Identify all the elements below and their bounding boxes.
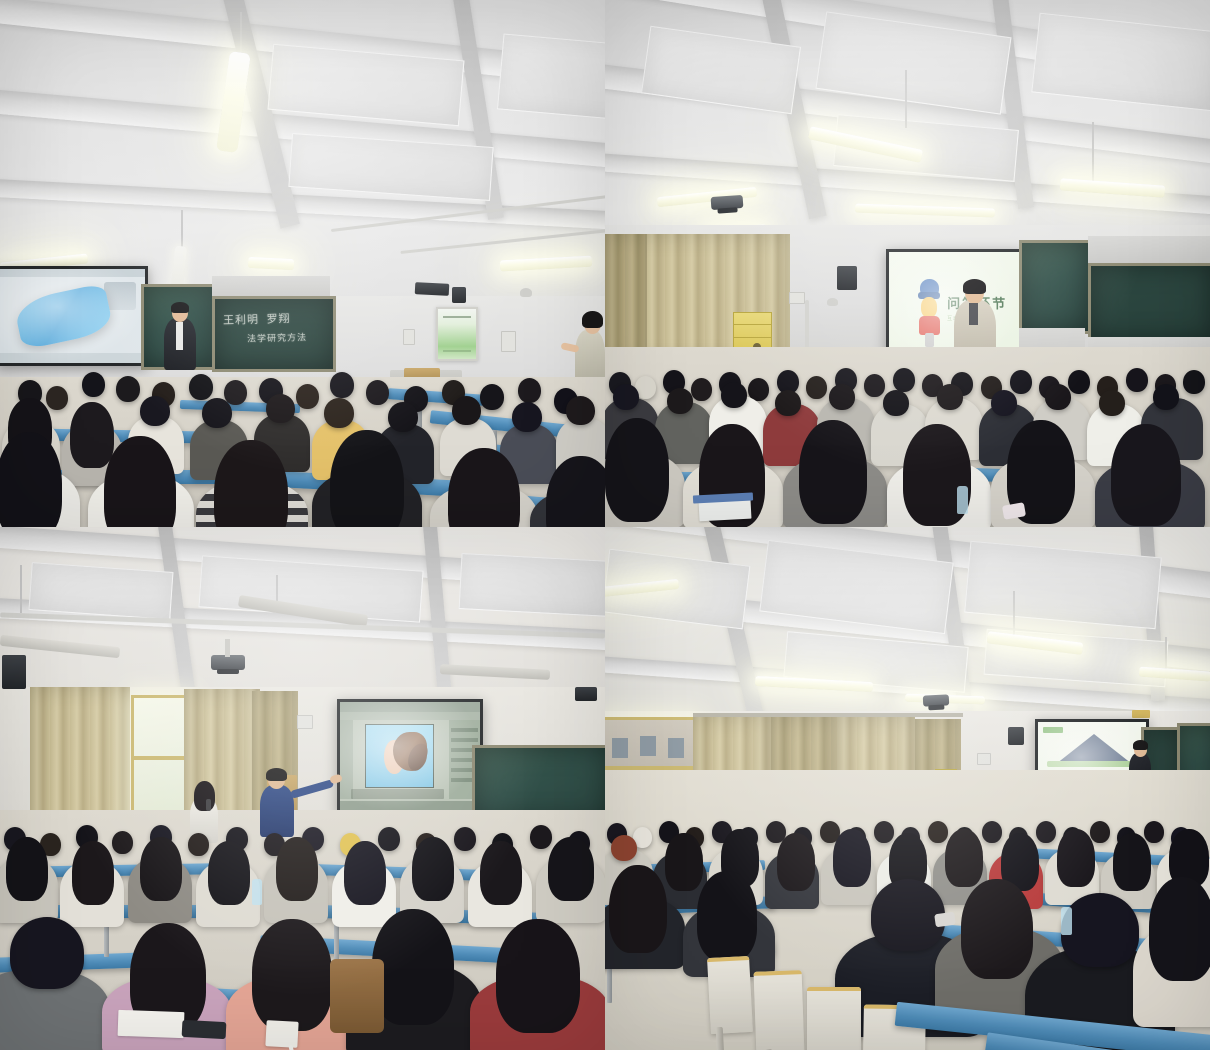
light-rod (1092, 122, 1094, 182)
wall-speaker (837, 266, 857, 290)
student-hair-foreground (697, 871, 757, 961)
app-viewport (365, 724, 434, 788)
student-head-foreground (1061, 893, 1139, 967)
notebook (118, 1010, 185, 1038)
seat-trim (754, 970, 802, 976)
student-head (982, 821, 1002, 843)
presenter-hair (963, 279, 986, 294)
app-menubar (340, 702, 480, 712)
cabinet-seam (734, 337, 771, 338)
student-head (829, 384, 855, 410)
student-head (1144, 821, 1164, 843)
student-hair (665, 833, 703, 891)
lecture-seat (807, 987, 861, 1050)
student-hair (945, 829, 983, 887)
chalkboard-main (1088, 263, 1210, 343)
photo-bottom-right: Tiered lecture hall audience facing pyra… (605, 527, 1210, 1050)
ceiling-light (248, 257, 295, 270)
seat-trim (707, 956, 749, 962)
student-head (928, 821, 948, 843)
student-hair-foreground (609, 865, 667, 953)
projection-screen (0, 266, 148, 366)
student-hair-foreground (496, 919, 580, 1033)
student-head (775, 390, 801, 416)
chalkboard-main: 王利明 罗翔 法学研究方法 (212, 296, 336, 372)
student-head (893, 368, 915, 392)
slide-3d-map (0, 269, 145, 363)
student-head (512, 402, 542, 432)
app-toolbar (340, 712, 480, 720)
app-statusbar (0, 353, 145, 363)
window-curtain (605, 234, 647, 362)
student-hair (548, 837, 594, 901)
security-camera (827, 298, 838, 306)
smartphone (182, 1020, 227, 1039)
student-head (1153, 384, 1179, 410)
student-hair (276, 837, 318, 901)
slide-logo (1043, 727, 1062, 732)
student-hair-foreground (252, 919, 332, 1031)
student-head (330, 372, 354, 398)
lecture-seat (707, 956, 753, 1034)
ceiling-coffer (497, 34, 605, 123)
student-head (1036, 821, 1056, 843)
mascot-body (919, 316, 940, 334)
building-window (668, 738, 684, 758)
ceiling-projector (211, 655, 245, 670)
security-camera (520, 288, 532, 297)
wall-speaker (452, 287, 466, 303)
panel-row (451, 738, 478, 742)
water-bottle (1061, 907, 1072, 935)
student-hair-foreground (1111, 424, 1181, 526)
student-head (296, 384, 319, 409)
photo-top-right: Packed lecture hall during Q&A session (605, 0, 1210, 527)
student-head (188, 833, 209, 856)
student-head (480, 384, 504, 410)
wall-outlet (789, 292, 805, 304)
student-hair (480, 841, 522, 905)
wall-speaker (1008, 727, 1024, 745)
light-rod (20, 565, 22, 613)
student-hair-foreground (0, 432, 62, 527)
curtain-rail (693, 713, 963, 717)
light-rod (181, 210, 183, 248)
student-head (1090, 821, 1110, 843)
student-head (667, 388, 693, 414)
student-head (518, 378, 541, 403)
student-head-foreground (10, 917, 84, 989)
handbag (330, 959, 384, 1033)
student-head (691, 378, 712, 401)
student-head (202, 398, 232, 428)
projector-mount (225, 639, 230, 657)
student-hair-foreground (372, 909, 454, 1025)
student-head (388, 402, 418, 432)
student-head (116, 376, 140, 402)
seat-trim (807, 987, 861, 991)
cabinet-seam (734, 324, 771, 325)
ceiling-projector (923, 694, 950, 706)
student-head (611, 835, 637, 861)
pyramid-band (1047, 761, 1138, 767)
panel-row (451, 728, 478, 732)
student-hair (6, 837, 48, 901)
student-head (1099, 390, 1125, 416)
student-head (613, 384, 639, 410)
mascot-legs (925, 333, 934, 347)
student-head (112, 831, 133, 854)
student-hair (72, 841, 114, 905)
presenter-shirt (176, 322, 183, 350)
student-head (452, 396, 481, 425)
app-menubar (0, 269, 145, 277)
photo-collage: Lecture hall with blue 3D model on proje… (0, 0, 1210, 1050)
slide-caption-bar (351, 789, 443, 799)
projection-screen (337, 699, 483, 815)
student-head (864, 374, 885, 397)
poster-line (443, 350, 470, 352)
student-head (140, 396, 170, 426)
student-hair-foreground (961, 879, 1033, 979)
student-hair-foreground (605, 418, 669, 522)
wall-poster (436, 307, 478, 361)
chalkboard-left (1019, 240, 1091, 334)
student-hair (344, 841, 386, 905)
microphone (206, 799, 211, 811)
student-head (806, 376, 827, 399)
presenter-body (260, 785, 294, 837)
photo-top-left: Lecture hall with blue 3D model on proje… (0, 0, 605, 527)
wall-speaker (415, 282, 450, 296)
wall-speaker (575, 687, 597, 701)
presenter-shirt (969, 303, 978, 325)
student-hair (140, 837, 182, 901)
water-bottle (957, 486, 968, 514)
photo-bottom-left: Instructor pointing at 3D hair-modeling … (0, 527, 605, 1050)
student-head (530, 825, 552, 849)
presenter-hair (1133, 740, 1148, 750)
student-head (1045, 384, 1071, 410)
app-left-panel (340, 720, 353, 799)
student-head (1183, 370, 1205, 394)
chalkboard-handwriting: 王利明 罗翔 (223, 310, 291, 328)
student-head (883, 390, 909, 416)
wall-panel (1088, 236, 1210, 263)
presenter-hair (171, 302, 189, 313)
student-hair (1113, 833, 1151, 891)
student-hair (833, 829, 871, 887)
student-hair-foreground (799, 420, 867, 524)
student-hair (70, 402, 114, 468)
student-hair (1057, 829, 1095, 887)
mascot-face (921, 297, 937, 317)
student-head (1068, 370, 1090, 394)
student-head (566, 396, 595, 425)
student-head (454, 827, 476, 851)
chalkboard-handwriting: 法学研究方法 (247, 330, 307, 345)
wall-switch (1132, 710, 1150, 718)
standing-person-hair (582, 311, 603, 328)
blue-3d-model (12, 282, 114, 349)
light-rod (905, 70, 907, 128)
poster-line (443, 316, 470, 318)
wall-speaker (2, 655, 26, 689)
light-rod (240, 12, 242, 52)
power-bank (265, 1020, 298, 1048)
student-head (937, 384, 963, 410)
student-head (378, 827, 400, 851)
slide-3d-modeling-app (340, 702, 480, 812)
student-hair (412, 837, 454, 901)
student-head (82, 372, 105, 397)
graduate-mascot-icon (918, 279, 940, 347)
student-head (1010, 370, 1032, 394)
smartphone (934, 912, 956, 928)
student-head (1126, 368, 1148, 392)
window-mullion (134, 756, 186, 760)
water-bottle (252, 879, 262, 905)
light-rod (1013, 591, 1015, 637)
student-head (721, 382, 747, 408)
student-head (324, 398, 354, 428)
student-hair (208, 841, 250, 905)
student-head (46, 386, 68, 410)
ceiling-projector (711, 195, 744, 210)
building-window (612, 738, 628, 758)
student-hair-foreground (1149, 877, 1210, 981)
presenter-hair (266, 768, 287, 781)
student-head (266, 394, 295, 423)
wall-panel (212, 276, 330, 296)
lecture-seat (754, 970, 805, 1050)
wall-outlet (297, 715, 313, 729)
pyramid-shape (1056, 734, 1132, 764)
student-head (874, 821, 894, 843)
student-hair-foreground (330, 430, 404, 527)
wall-outlet (977, 753, 991, 765)
ceiling-coffer (459, 553, 605, 617)
building-window (640, 736, 656, 756)
student-head (366, 380, 389, 405)
standing-person-hair (194, 781, 215, 811)
student-head (991, 390, 1017, 416)
student-head (189, 374, 213, 400)
ceiling-coffer (28, 562, 173, 620)
student-hair (777, 833, 815, 891)
wall-outlet (501, 331, 516, 352)
wall-outlet (403, 329, 415, 345)
